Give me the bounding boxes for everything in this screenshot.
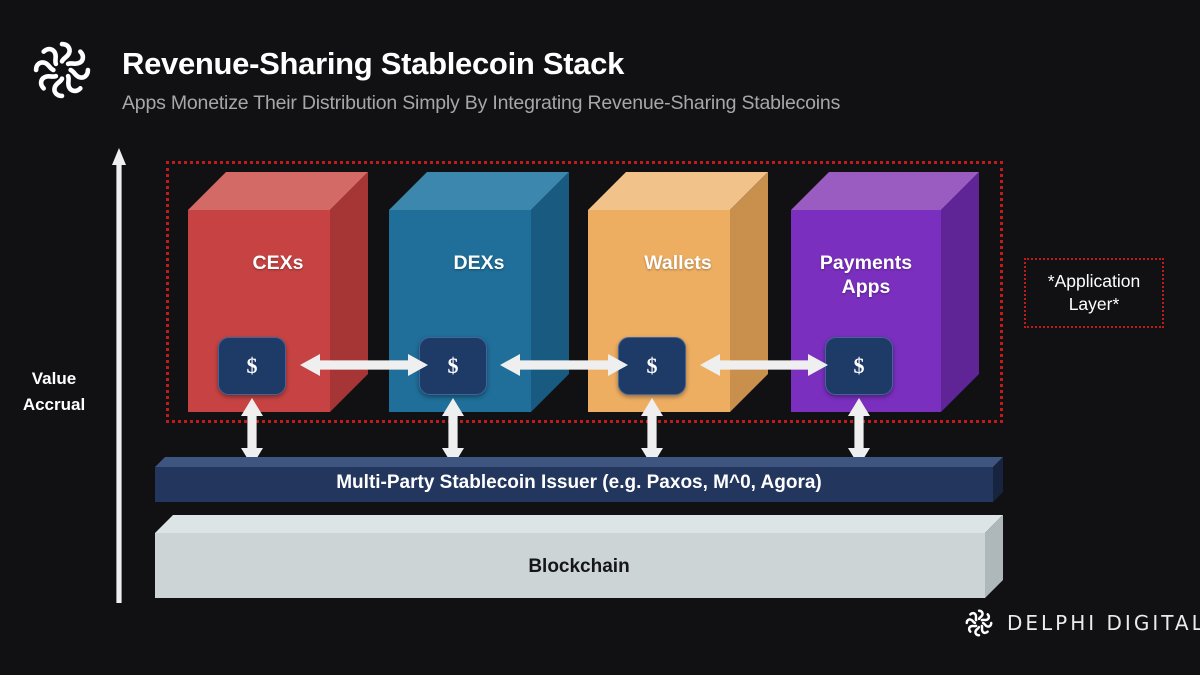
value-accrual-up-arrow-icon — [112, 148, 126, 603]
arrow-cexs-to-issuer — [239, 398, 265, 466]
application-layer-note: *Application Layer* — [1024, 258, 1164, 328]
value-accrual-label-line1: Value — [0, 366, 108, 392]
layer-bar-issuer[interactable]: Multi-Party Stablecoin Issuer (e.g. Paxo… — [155, 457, 1003, 502]
payments-apps-dollar-symbol: $ — [854, 355, 865, 377]
application-layer-note-line2: Layer* — [1048, 293, 1140, 316]
arrow-dexs-to-issuer — [440, 398, 466, 466]
cexs-dollar-badge[interactable]: $ — [218, 337, 286, 395]
layer-bar-blockchain[interactable]: Blockchain — [155, 515, 1003, 598]
application-layer-note-line1: *Application — [1048, 270, 1140, 293]
issuer-bar-3d-shape — [155, 457, 1003, 502]
arrow-payments-apps-to-issuer — [846, 398, 872, 466]
page-subtitle: Apps Monetize Their Distribution Simply … — [122, 92, 840, 115]
wallets-dollar-badge[interactable]: $ — [618, 337, 686, 395]
diagram-canvas: Revenue-Sharing Stablecoin Stack Apps Mo… — [0, 0, 1200, 675]
value-accrual-label-line2: Accrual — [0, 392, 108, 418]
delphi-ring-logo-icon-footer — [962, 606, 996, 640]
brand-footer: DELPHI DIGITAL — [962, 606, 1200, 640]
value-accrual-label: Value Accrual — [0, 366, 108, 419]
dexs-dollar-symbol: $ — [448, 355, 459, 377]
payments-apps-dollar-badge[interactable]: $ — [825, 337, 893, 395]
cexs-dollar-symbol: $ — [247, 355, 258, 377]
arrow-wallets-to-payments-apps — [700, 352, 828, 378]
arrow-dexs-to-wallets — [500, 352, 628, 378]
page-title: Revenue-Sharing Stablecoin Stack — [122, 46, 624, 82]
dexs-dollar-badge[interactable]: $ — [419, 337, 487, 395]
brand-name: DELPHI DIGITAL — [1007, 611, 1200, 635]
blockchain-bar-3d-shape — [155, 515, 1003, 598]
arrow-wallets-to-issuer — [639, 398, 665, 466]
delphi-ring-logo-icon — [26, 34, 98, 106]
arrow-cexs-to-dexs — [300, 352, 428, 378]
wallets-dollar-symbol: $ — [647, 355, 658, 377]
